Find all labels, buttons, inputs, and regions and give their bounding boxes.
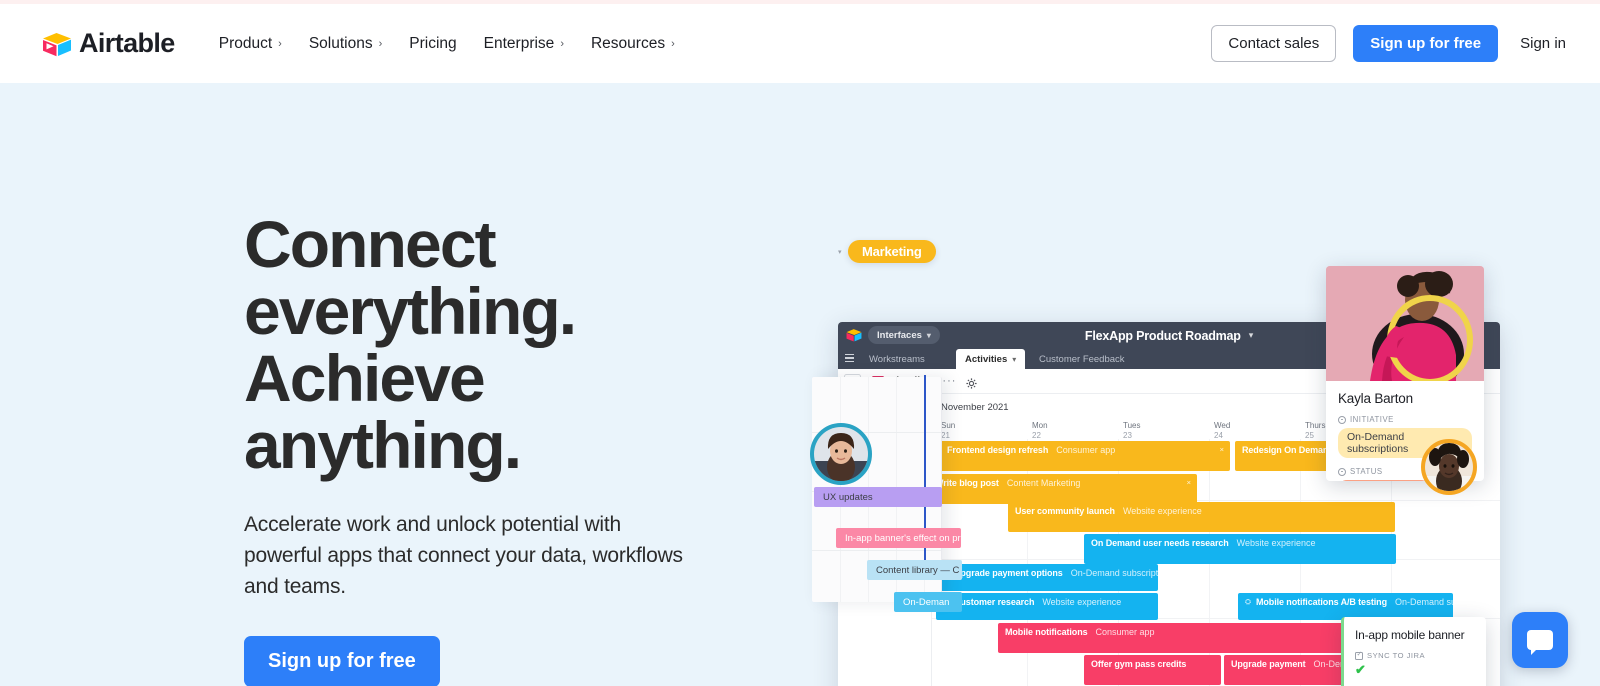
chevron-right-icon: › (560, 38, 564, 50)
record-card-in-app-mobile-banner[interactable]: In-app mobile banner SYNC TO JIRA ✔ OPEN… (1341, 617, 1486, 686)
bar-subtitle: Website experience (1123, 506, 1202, 516)
tab-label: Customer Feedback (1039, 354, 1125, 365)
chat-bubble-icon (1527, 630, 1553, 650)
record-title: Kayla Barton (1338, 391, 1472, 406)
bar-title: On Demand user needs research (1091, 538, 1229, 548)
heading-line-1: Connect (244, 207, 495, 281)
timeline-bar-float[interactable]: On-Deman (894, 592, 962, 612)
bar-subtitle: Website experience (1042, 597, 1121, 607)
day-number: 21 (941, 431, 955, 441)
chevron-down-icon[interactable]: ▾ (838, 248, 842, 256)
day-number: 23 (1123, 431, 1141, 441)
day-name: Tues (1123, 421, 1141, 431)
field-label-sync-to-jira: SYNC TO JIRA (1355, 651, 1486, 660)
nav-item-label: Enterprise (484, 35, 555, 53)
checkbox-icon (1355, 652, 1363, 660)
bar-title: Offer gym pass credits (1091, 659, 1186, 669)
airtable-cube-icon (42, 31, 72, 57)
timeline-bar[interactable]: User community launch Website experience (1008, 502, 1395, 532)
day-header-thurs: Thurs 25 (1305, 421, 1325, 441)
tab-workstreams[interactable]: Workstreams (860, 349, 934, 369)
record-title: In-app mobile banner (1344, 617, 1486, 642)
heading-line-2: everything. (244, 274, 575, 348)
day-name: Thurs (1305, 421, 1325, 431)
nav-item-product[interactable]: Product › (219, 35, 282, 53)
day-number: 24 (1214, 431, 1230, 441)
bar-subtitle: On-Demand subscriptions (1395, 597, 1453, 607)
timeline-bar[interactable]: ⛭ Mobile notifications A/B testing On-De… (1238, 593, 1453, 620)
timeline-bar[interactable]: Offer gym pass credits (1084, 655, 1221, 685)
status-badge[interactable]: Needs approval (1338, 480, 1430, 481)
signup-button-hero[interactable]: Sign up for free (244, 636, 440, 686)
link-icon: ⛭ (1245, 597, 1251, 607)
bar-title: Content library — C (876, 565, 959, 576)
nav-links: Product › Solutions › Pricing Enterprise… (219, 35, 702, 53)
month-label: November 2021 (941, 402, 1009, 413)
timeline-bar[interactable]: ⛭ Customer research Website experience (936, 593, 1158, 620)
logo-wordmark: Airtable (79, 28, 175, 59)
avatar-team-member-2[interactable] (1421, 439, 1477, 495)
tab-customer-feedback[interactable]: Customer Feedback (1030, 349, 1134, 369)
day-number: 22 (1032, 431, 1048, 441)
day-name: Wed (1214, 421, 1230, 431)
app-title-text: FlexApp Product Roadmap (1085, 329, 1241, 343)
day-header-tues: Tues 23 (1123, 421, 1141, 441)
day-name: Mon (1032, 421, 1048, 431)
bar-title: Mobile notifications A/B testing (1256, 597, 1387, 607)
page-title: Connect everything. Achieve anything. (244, 211, 714, 479)
hero-subheading: Accelerate work and unlock potential wit… (244, 509, 704, 602)
day-header-wed: Wed 24 (1214, 421, 1230, 441)
nav-item-solutions[interactable]: Solutions › (309, 35, 382, 53)
nav-item-resources[interactable]: Resources › (591, 35, 675, 53)
product-screenshot-mock: Interfaces ▾ FlexApp Product Roadmap ▾ W… (838, 240, 1600, 686)
bar-title: On-Deman (903, 597, 949, 608)
group-pill-marketing[interactable]: Marketing (848, 240, 936, 263)
close-icon[interactable]: × (1220, 445, 1224, 454)
bar-title: Customer research (954, 597, 1034, 607)
nav-item-label: Pricing (409, 35, 456, 53)
chevron-right-icon: › (379, 38, 383, 50)
nav-item-enterprise[interactable]: Enterprise › (484, 35, 564, 53)
day-header-sun: Sun 21 (941, 421, 955, 441)
nav-item-pricing[interactable]: Pricing (409, 35, 456, 53)
bar-title: UX updates (823, 492, 873, 503)
tab-label: Activities (965, 354, 1007, 365)
timeline-bar[interactable]: ⛭ Upgrade payment options On-Demand subs… (936, 564, 1158, 591)
heading-line-3: Achieve (244, 341, 484, 415)
day-header-mon: Mon 22 (1032, 421, 1048, 441)
chat-widget-button[interactable] (1512, 612, 1568, 668)
airtable-logo[interactable]: Airtable (42, 28, 175, 59)
bar-subtitle: On-Demand (1314, 659, 1344, 669)
timeline-bar[interactable]: Frontend design refresh Consumer app × (940, 441, 1230, 471)
bar-subtitle: Consumer app (1056, 445, 1115, 455)
hamburger-menu-icon[interactable] (845, 354, 854, 363)
nav-left-group: Airtable Product › Solutions › Pricing E… (0, 28, 702, 59)
nav-item-label: Resources (591, 35, 665, 53)
field-label-text: SYNC TO JIRA (1367, 651, 1425, 660)
chevron-down-icon: ▾ (1012, 355, 1016, 364)
day-number: 25 (1305, 431, 1325, 441)
field-type-icon (1338, 468, 1346, 476)
bar-subtitle: Website experience (1237, 538, 1316, 548)
signin-link[interactable]: Sign in (1520, 35, 1566, 52)
timeline-bar[interactable]: Upgrade payment On-Demand (1224, 655, 1344, 685)
nav-item-label: Product (219, 35, 272, 53)
top-navigation-bar: Airtable Product › Solutions › Pricing E… (0, 4, 1600, 83)
nav-right-group: Contact sales Sign up for free Sign in (1211, 4, 1570, 83)
timeline-bar[interactable]: Mobile notifications Consumer app (998, 623, 1395, 653)
close-icon[interactable]: × (1187, 478, 1191, 487)
sync-checkmark-icon: ✔ (1355, 662, 1486, 678)
page-root: Airtable Product › Solutions › Pricing E… (0, 0, 1600, 686)
bar-title: Mobile notifications (1005, 627, 1088, 637)
bar-title: Frontend design refresh (947, 445, 1048, 455)
bar-title: User community launch (1015, 506, 1115, 516)
bar-title: Upgrade payment (1231, 659, 1306, 669)
tab-label: Workstreams (869, 354, 925, 365)
timeline-bar-float[interactable]: Content library — C (867, 560, 962, 580)
nav-item-label: Solutions (309, 35, 373, 53)
field-label-initiative: INITIATIVE (1338, 415, 1472, 424)
gear-icon[interactable] (966, 376, 977, 387)
signup-button-nav[interactable]: Sign up for free (1353, 25, 1498, 62)
hero-copy: Connect everything. Achieve anything. Ac… (244, 211, 714, 686)
bar-title: In-app banner's effect on pro (845, 533, 961, 544)
contact-sales-button[interactable]: Contact sales (1211, 25, 1336, 62)
field-label-text: STATUS (1350, 467, 1383, 476)
timeline-bar[interactable]: Write blog post Content Marketing × (932, 474, 1197, 504)
day-name: Sun (941, 421, 955, 431)
hero-section: Connect everything. Achieve anything. Ac… (0, 83, 1600, 686)
bar-subtitle: On-Demand subscriptions (1071, 568, 1158, 578)
timeline-bar-float[interactable]: In-app banner's effect on pro (836, 528, 961, 548)
more-options-icon[interactable]: ··· (942, 375, 956, 387)
bar-title: Write blog post (935, 478, 999, 488)
bar-subtitle: Consumer app (1096, 627, 1155, 637)
tab-activities[interactable]: Activities ▾ (956, 349, 1025, 369)
group-pill-label: Marketing (862, 244, 922, 259)
field-type-icon (1338, 416, 1346, 424)
chevron-down-icon: ▾ (1249, 330, 1253, 341)
heading-line-4: anything. (244, 408, 520, 482)
field-label-text: INITIATIVE (1350, 415, 1394, 424)
chevron-right-icon: › (278, 38, 282, 50)
kayla-photo (1326, 266, 1484, 381)
bar-title: Upgrade payment options (954, 568, 1063, 578)
bar-subtitle: Content Marketing (1007, 478, 1081, 488)
chevron-right-icon: › (671, 38, 675, 50)
timeline-bar-float[interactable]: UX updates (814, 487, 942, 507)
avatar-team-member-1[interactable] (810, 423, 872, 485)
timeline-bar[interactable]: On Demand user needs research Website ex… (1084, 534, 1396, 564)
